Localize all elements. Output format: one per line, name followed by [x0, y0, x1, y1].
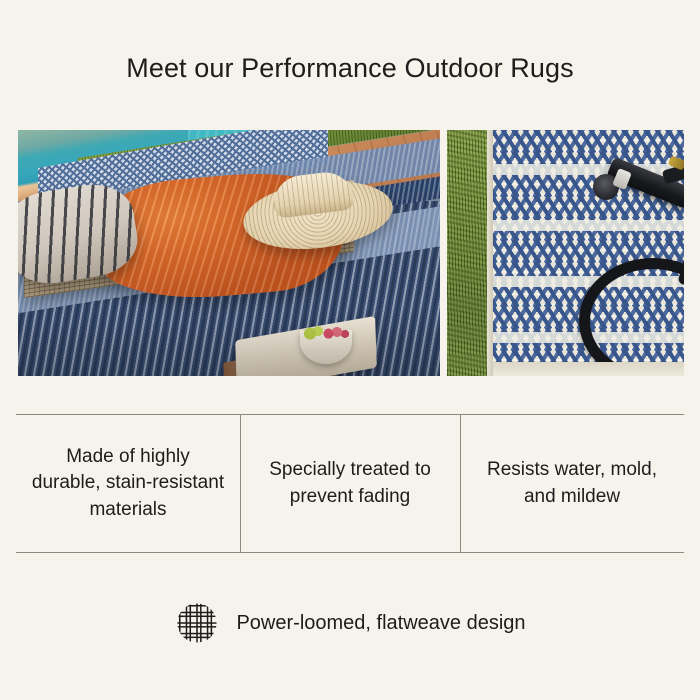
- promo-page: Meet our Performance Outdoor Rugs: [0, 0, 700, 700]
- construction-badge: Power-loomed, flatweave design: [0, 600, 700, 646]
- hose-on-rug-photo: [447, 130, 684, 376]
- photo-shadow-overlay: [18, 306, 440, 376]
- feature-durable: Made of highly durable, stain-resistant …: [16, 415, 240, 552]
- construction-badge-label: Power-loomed, flatweave design: [236, 611, 525, 635]
- image-gallery: [18, 130, 684, 376]
- poolside-rug-lifestyle-photo: [18, 130, 440, 376]
- divider-bottom: [16, 552, 684, 553]
- feature-row: Made of highly durable, stain-resistant …: [16, 415, 684, 552]
- page-title: Meet our Performance Outdoor Rugs: [0, 52, 700, 84]
- rug-border: [493, 362, 684, 376]
- grass-area: [447, 130, 487, 376]
- feature-weather-resistant: Resists water, mold, and mildew: [460, 415, 684, 552]
- rug-band: [493, 220, 684, 231]
- chevron-flatweave-rug: [493, 130, 684, 376]
- feature-fade-resistant: Specially treated to prevent fading: [240, 415, 460, 552]
- basketweave-icon: [174, 600, 220, 646]
- rug-edge: [487, 130, 493, 376]
